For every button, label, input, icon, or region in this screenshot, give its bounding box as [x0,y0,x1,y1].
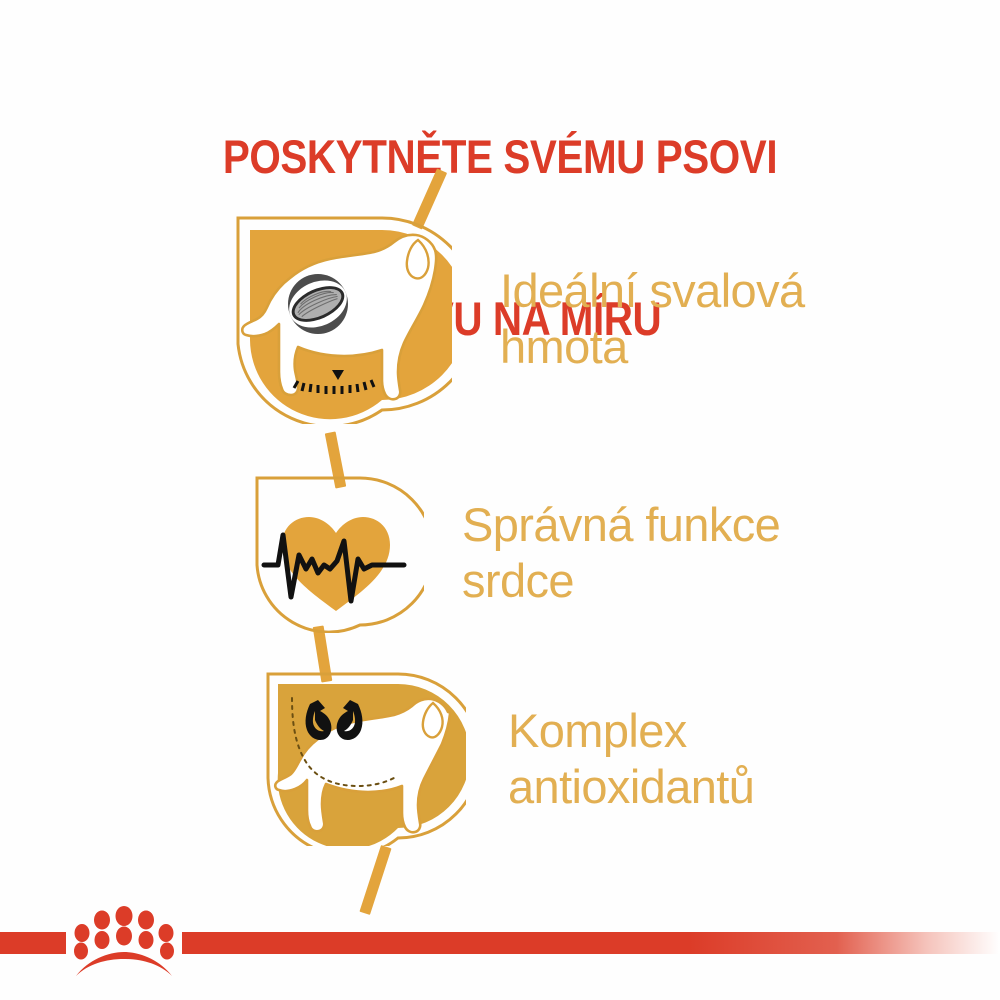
connector-dash-bottom [359,845,391,915]
heart-ecg-icon-svg [252,473,424,633]
benefit-row-heart: Správná funkce srdce [252,473,780,633]
headline-line-1: POSKYTNĚTE SVÉMU PSOVI [70,130,930,184]
dog-antioxidant-icon [262,668,466,846]
benefit-row-antioxidants: Komplex antioxidantů [262,668,754,846]
crown-arc [76,952,172,976]
benefit-label-muscle-mass: Ideální svalová hmota [500,263,805,375]
royal-canin-crown-logo [68,902,180,986]
crown-dots [74,906,174,960]
dog-antioxidant-icon-svg [262,668,466,846]
infographic-page: POSKYTNĚTE SVÉMU PSOVI VÝŽIVU NA MÍRU [0,0,1000,1000]
heart-ecg-icon [252,473,424,633]
dog-muscle-mass-icon-svg [232,212,452,424]
benefit-label-heart: Správná funkce srdce [462,497,780,609]
benefit-row-muscle-mass: Ideální svalová hmota [232,212,805,424]
benefit-label-antioxidants: Komplex antioxidantů [508,703,754,815]
brand-band-left-segment [0,932,66,954]
brand-band-right-segment [182,932,1000,954]
dog-muscle-mass-icon [232,212,452,424]
